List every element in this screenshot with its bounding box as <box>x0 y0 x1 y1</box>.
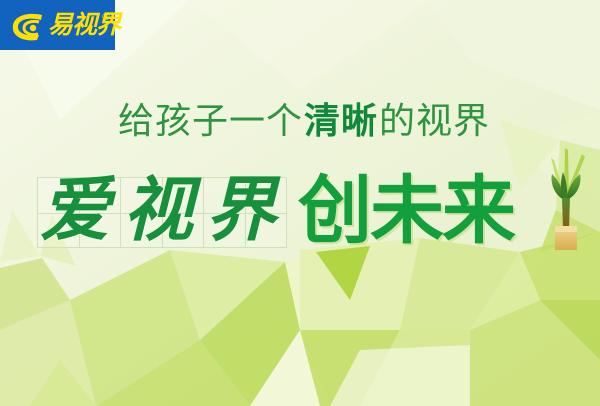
tagline-highlight-text: 清晰 <box>304 101 378 142</box>
tagline-prefix: 给孩子一个 <box>118 100 303 144</box>
trademark-symbol: ® <box>101 13 111 23</box>
tagline-highlight: 清晰 <box>303 100 379 144</box>
eye-spiral-e-icon <box>9 12 49 42</box>
tagline-suffix: 的视界 <box>379 100 490 144</box>
slogan-part-two: 创未来 <box>298 170 514 252</box>
main-slogan: 爱视界 创未来 <box>0 168 600 254</box>
slogan-part-one: 爱视界 <box>40 168 289 252</box>
tagline: 给孩子一个 清晰 的视界 <box>118 99 490 145</box>
sprout-in-pot-icon <box>538 148 594 254</box>
promo-banner: 易视界 ® 给孩子一个 清晰 的视界 爱视界 创未来 <box>0 0 600 406</box>
brand-logo[interactable]: 易视界 ® <box>0 0 115 50</box>
